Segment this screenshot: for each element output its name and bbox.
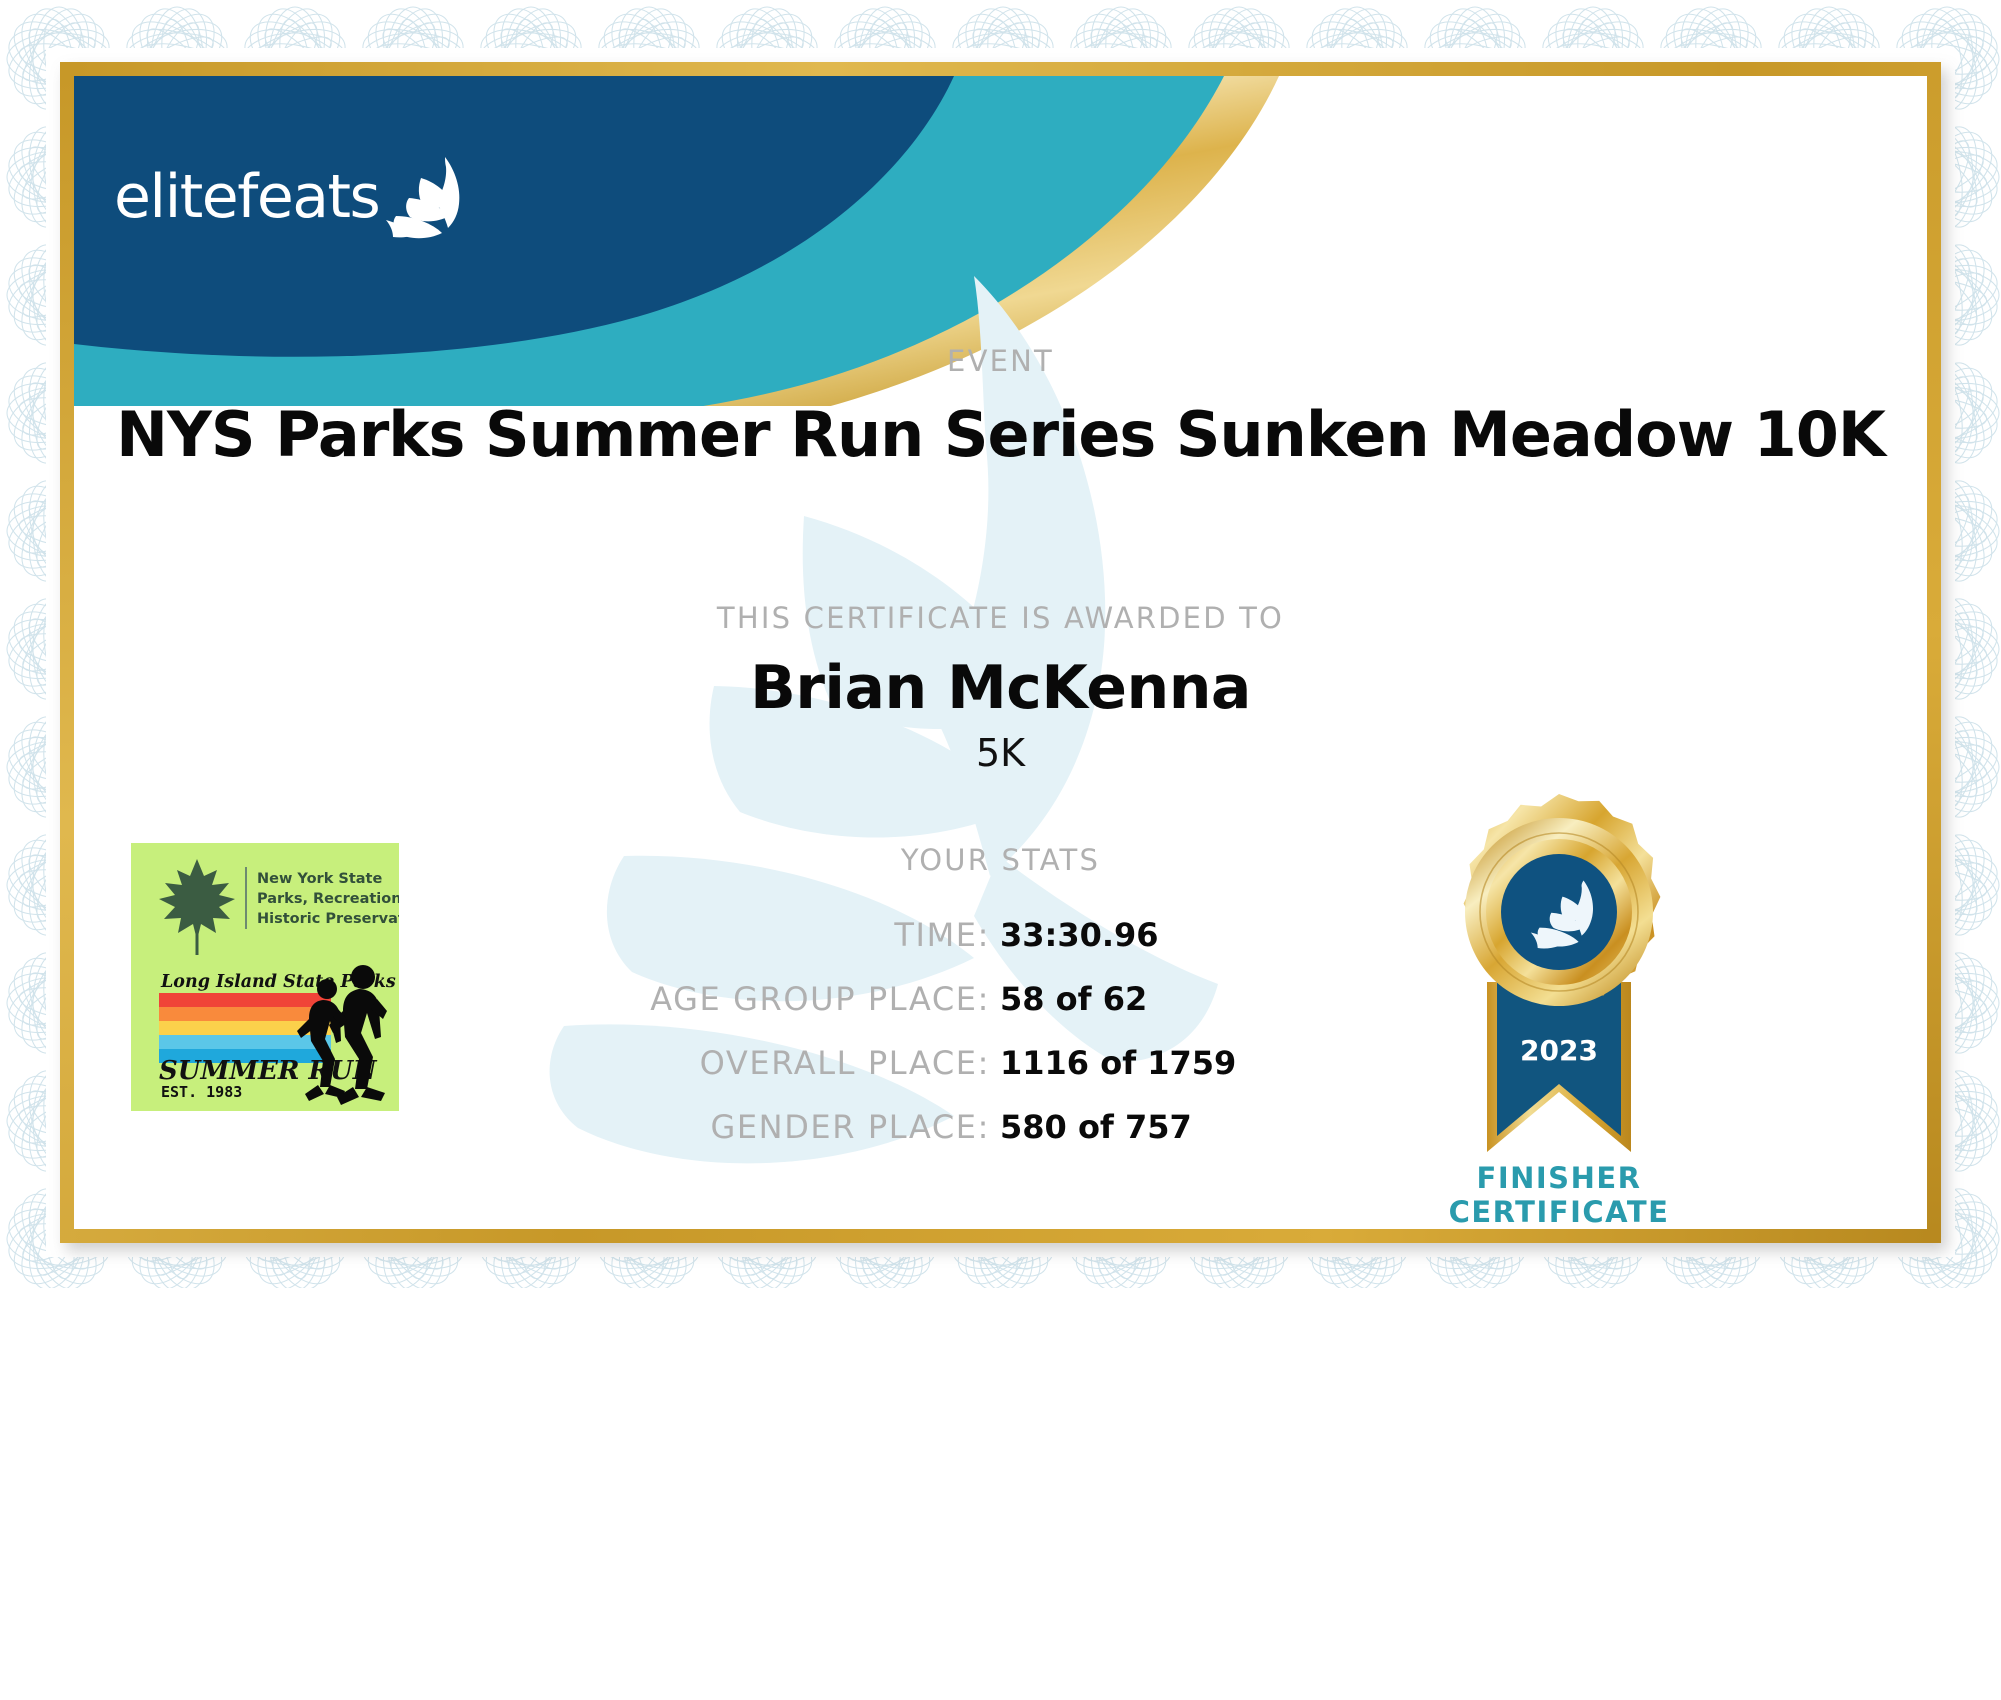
stat-label-gender-place: GENDER PLACE:	[74, 1108, 1000, 1146]
svg-text:EST. 1983: EST. 1983	[161, 1083, 242, 1101]
medal-caption-line-2: CERTIFICATE	[1379, 1195, 1739, 1229]
stat-value-gender-place: 580 of 757	[1000, 1108, 1192, 1146]
medal-caption: FINISHER CERTIFICATE	[1379, 1161, 1739, 1229]
race-distance: 5K	[74, 731, 1927, 775]
stat-value-age-group-place: 58 of 62	[1000, 980, 1147, 1018]
elitefeats-logo: elitefeats	[114, 154, 471, 240]
event-title: NYS Parks Summer Run Series Sunken Meado…	[74, 398, 1927, 471]
awarded-to-label: THIS CERTIFICATE IS AWARDED TO	[74, 601, 1927, 635]
svg-text:Parks, Recreation and: Parks, Recreation and	[257, 891, 399, 907]
svg-text:SUMMER RUN: SUMMER RUN	[159, 1056, 378, 1086]
nys-parks-summer-run-logo: New York State Parks, Recreation and His…	[131, 843, 399, 1111]
svg-text:Historic Preservation: Historic Preservation	[257, 911, 399, 927]
event-label: EVENT	[74, 344, 1927, 378]
certificate-body: elitefeats EVENT NYS Parks Summer Run Se…	[74, 76, 1927, 1229]
medal-caption-line-1: FINISHER	[1379, 1161, 1739, 1195]
stat-value-overall-place: 1116 of 1759	[1000, 1044, 1236, 1082]
svg-text:New York State: New York State	[257, 871, 382, 887]
winged-foot-icon	[383, 154, 471, 240]
recipient-name: Brian McKenna	[74, 653, 1927, 723]
medal-year: 2023	[1520, 1034, 1598, 1067]
finisher-medal-rosette: 2023	[1429, 792, 1689, 1172]
stat-value-time: 33:30.96	[1000, 916, 1159, 954]
certificate-content: EVENT NYS Parks Summer Run Series Sunken…	[74, 76, 1927, 1229]
elitefeats-wordmark: elitefeats	[114, 167, 379, 227]
